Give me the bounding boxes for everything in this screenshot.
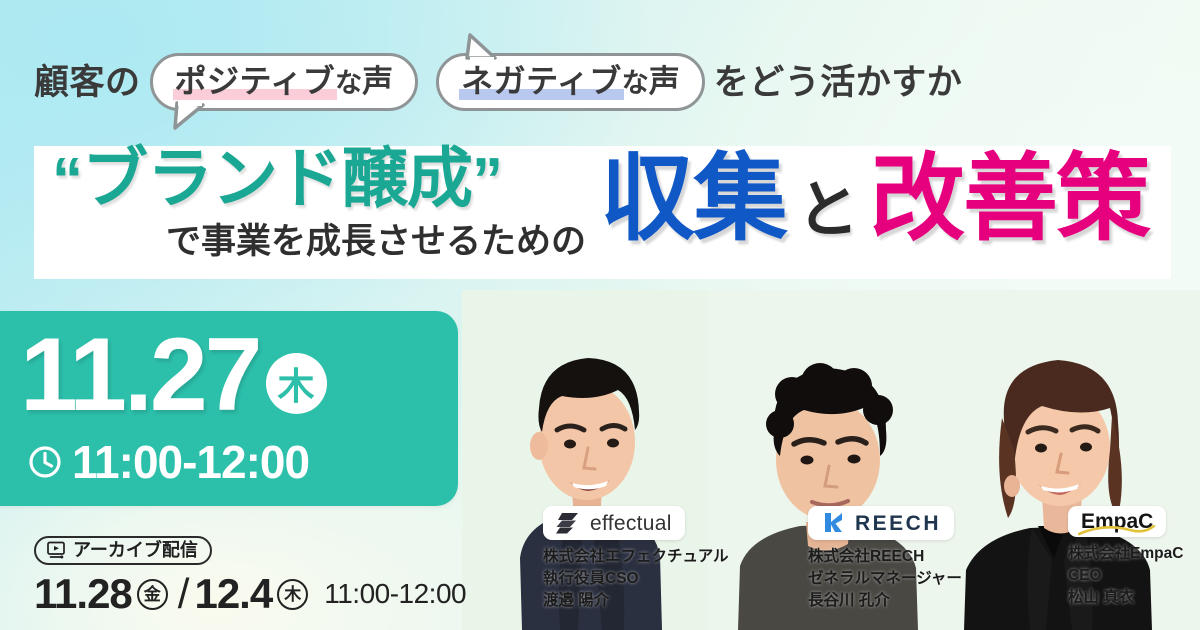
quote-close: ” xyxy=(472,146,502,215)
archive-time: 11:00-12:00 xyxy=(324,580,466,608)
bubble-negative-highlight: ネガティブ xyxy=(461,65,622,97)
quote-open: “ xyxy=(52,146,82,215)
speech-bubble-negative: ネガティブ な 声 xyxy=(436,53,705,111)
speaker-1-details: 株式会社エフェクチュアル 執行役員CSO 渡邉 陽介 xyxy=(543,546,729,612)
headline-conjunction: と xyxy=(797,180,859,242)
archive-dow-2: 木 xyxy=(277,579,308,610)
empac-swoosh-icon xyxy=(1078,525,1156,537)
archive-badge: アーカイブ配信 xyxy=(34,536,212,565)
top-question-line: 顧客の ポジティブ な 声 ネガティブ な 声 をどう活かすか xyxy=(34,47,962,117)
reech-logo-text: REECH xyxy=(855,513,941,534)
headline-subline: で事業を成長させるための xyxy=(166,224,586,259)
effectual-mark-icon xyxy=(556,511,582,535)
top-line-suffix: をどう活かすか xyxy=(714,65,963,100)
bubble-negative-kanji: 声 xyxy=(649,66,680,97)
speaker-3-details: 株式会社EmpaC CEO 松山 真衣 xyxy=(1068,543,1183,609)
reech-mark-icon xyxy=(821,511,847,535)
speaker-2-name: 長谷川 孔介 xyxy=(808,590,962,612)
main-time-row: 11:00-12:00 xyxy=(28,439,309,485)
headline-keywords: 収集 と 改善策 xyxy=(600,152,1149,247)
speaker-1-company: 株式会社エフェクチュアル xyxy=(543,546,729,568)
reech-logo: REECH xyxy=(808,506,954,540)
speaker-credential-3: EmpaC 株式会社EmpaC CEO 松山 真衣 xyxy=(1068,506,1183,609)
top-line-prefix: 顧客の xyxy=(34,65,141,100)
speaker-1-title: 執行役員CSO xyxy=(543,568,729,590)
speaker-2-details: 株式会社REECH ゼネラルマネージャー 長谷川 孔介 xyxy=(808,546,962,612)
speaker-2-company: 株式会社REECH xyxy=(808,546,962,568)
archive-dow-1: 金 xyxy=(137,579,168,610)
archive-separator: / xyxy=(178,573,190,615)
effectual-logo: effectual xyxy=(543,506,685,540)
headline-keyword-collect: 収集 xyxy=(600,152,786,247)
headline-brand-word: ブランド醸成 xyxy=(82,141,472,215)
headline-band: “ブランド醸成” で事業を成長させるための 収集 と 改善策 xyxy=(34,146,1171,279)
main-date: 11.27 xyxy=(20,323,260,427)
archive-date-1: 11.28 xyxy=(34,573,132,615)
speaker-credential-1: effectual 株式会社エフェクチュアル 執行役員CSO 渡邉 陽介 xyxy=(543,506,729,612)
video-archive-icon xyxy=(46,540,66,560)
archive-badge-label: アーカイブ配信 xyxy=(73,541,198,559)
bubble-tail-bottom-left-icon xyxy=(173,103,207,129)
date-box: 11.27 木 11:00-12:00 xyxy=(0,311,458,506)
archive-dates-line: 11.28 金 / 12.4 木 11:00-12:00 xyxy=(34,573,466,615)
archive-date-2: 12.4 xyxy=(194,573,272,615)
headline-brand-phrase: “ブランド醸成” xyxy=(52,142,502,215)
speaker-3-company: 株式会社EmpaC xyxy=(1068,543,1183,565)
empac-logo: EmpaC xyxy=(1068,506,1166,537)
speaker-3-title: CEO xyxy=(1068,565,1183,587)
bubble-negative-kana: な xyxy=(622,70,649,97)
bubble-positive-kana: な xyxy=(335,70,362,97)
main-date-row: 11.27 木 xyxy=(20,323,327,427)
speaker-1-name: 渡邉 陽介 xyxy=(543,590,729,612)
bubble-positive-highlight: ポジティブ xyxy=(175,65,336,97)
bubble-tail-top-left-icon xyxy=(465,34,499,60)
speaker-credential-2: REECH 株式会社REECH ゼネラルマネージャー 長谷川 孔介 xyxy=(808,506,962,612)
clock-icon xyxy=(28,445,62,479)
headline-keyword-improve: 改善策 xyxy=(870,152,1149,247)
speaker-3-name: 松山 真衣 xyxy=(1068,587,1183,609)
speaker-2-title: ゼネラルマネージャー xyxy=(808,568,962,590)
main-time: 11:00-12:00 xyxy=(72,439,309,485)
speech-bubble-positive: ポジティブ な 声 xyxy=(150,53,419,111)
effectual-logo-text: effectual xyxy=(590,513,672,534)
main-day-of-week: 木 xyxy=(266,353,327,414)
archive-block: アーカイブ配信 11.28 金 / 12.4 木 11:00-12:00 xyxy=(34,536,466,615)
bubble-positive-kanji: 声 xyxy=(362,66,393,97)
